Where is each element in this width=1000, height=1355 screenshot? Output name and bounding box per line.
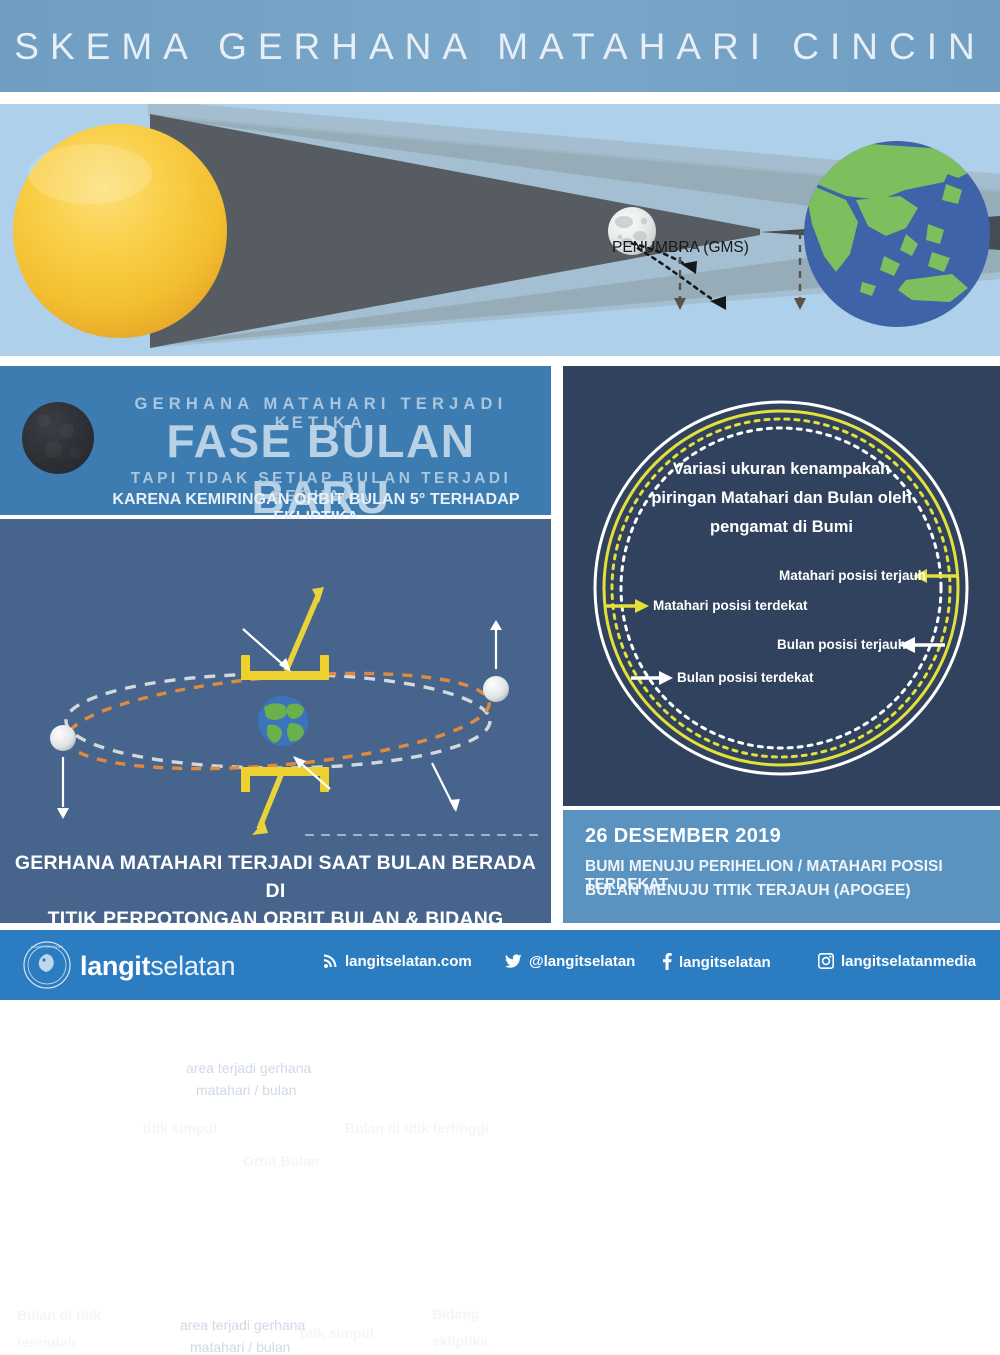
label-moon-lowest-line2: terendah: [17, 1334, 76, 1350]
label-moon-farthest: Bulan posisi terjauh: [777, 637, 906, 652]
apparent-size-title-line3: pengamat di Bumi: [603, 513, 960, 542]
eclipse-geometry-diagram: PENUMBRA (GMS) UMBRA (GMT) ANTUMBRA (GMC…: [0, 104, 1000, 356]
label-ecliptic-line1: Bidang: [432, 1306, 479, 1322]
earth-globe: [804, 141, 990, 327]
node-marker-bottom: [241, 767, 329, 792]
apparent-size-title: Variasi ukuran kenampakan piringan Matah…: [603, 455, 960, 542]
langitselatan-seal-logo: LANGITSELATAN: [22, 940, 72, 990]
instagram-icon: [818, 953, 834, 973]
label-eclipse-area-bottom-line2: matahari / bulan: [190, 1339, 290, 1355]
social-facebook-label: langitselatan: [679, 954, 771, 971]
orbit-footer-line1: GERHANA MATAHARI TERJADI SAAT BULAN BERA…: [10, 849, 541, 905]
new-moon-icon: [22, 402, 94, 474]
moon-lowest-point: [50, 725, 76, 751]
label-eclipse-area-top-line1: area terjadi gerhana: [186, 1060, 311, 1076]
eclipse-area-arrow-bottom: [259, 775, 281, 829]
label-eclipse-area-bottom-line1: area terjadi gerhana: [180, 1317, 305, 1333]
moon-orbit-diagram: area terjadi gerhana matahari / bulan ti…: [0, 519, 551, 923]
seal-text: LANGITSELATAN: [31, 944, 63, 949]
social-website[interactable]: langitselatan.com: [322, 953, 472, 973]
event-date: 26 DESEMBER 2019: [585, 825, 781, 848]
social-website-label: langitselatan.com: [345, 953, 472, 970]
label-node-top: titik simpul: [143, 1120, 217, 1136]
apparent-size-diagram: Variasi ukuran kenampakan piringan Matah…: [563, 366, 1000, 806]
new-moon-banner: GERHANA MATAHARI TERJADI KETIKA FASE BUL…: [0, 366, 551, 515]
label-moon-orbit: Orbit Bulan: [243, 1153, 319, 1169]
label-moon-highest: Bulan di titik tertinggi: [345, 1120, 489, 1136]
moon-highest-point: [483, 676, 509, 702]
label-moon-lowest-line1: Bulan di titik: [17, 1307, 101, 1323]
apparent-size-title-line2: piringan Matahari dan Bulan oleh: [603, 484, 960, 513]
label-sun-nearest: Matahari posisi terdekat: [653, 598, 808, 613]
brand-bold: langit: [80, 951, 150, 981]
page-title: SKEMA GERHANA MATAHARI CINCIN: [0, 26, 1000, 68]
antumbra-pointer-arrowhead: [794, 298, 806, 310]
header-bar: SKEMA GERHANA MATAHARI CINCIN: [0, 0, 1000, 92]
facebook-icon: [662, 953, 672, 974]
rss-icon: [322, 953, 338, 973]
infographic-page: SKEMA GERHANA MATAHARI CINCIN: [0, 0, 1000, 1000]
brand-light: selatan: [150, 951, 235, 981]
label-node-bottom: titik simpul: [300, 1325, 374, 1341]
apparent-size-title-line1: Variasi ukuran kenampakan: [603, 455, 960, 484]
eclipse-area-arrow-top: [286, 596, 318, 671]
event-subtitle-2: BULAN MENUJU TITIK TERJAUH (APOGEE): [585, 882, 911, 900]
social-twitter-label: @langitselatan: [529, 953, 635, 970]
apparent-size-svg: [563, 366, 1000, 806]
sun-sphere: [13, 124, 227, 338]
social-instagram-label: langitselatanmedia: [841, 953, 976, 970]
social-facebook[interactable]: langitselatan: [662, 953, 771, 974]
footer-bar: LANGITSELATAN langitselatan langitselata…: [0, 930, 1000, 1000]
label-moon-nearest: Bulan posisi terdekat: [677, 670, 814, 685]
label-sun-farthest: Matahari posisi terjauh: [779, 568, 926, 583]
twitter-icon: [505, 954, 522, 973]
social-twitter[interactable]: @langitselatan: [505, 953, 635, 973]
social-instagram[interactable]: langitselatanmedia: [818, 953, 976, 973]
label-eclipse-area-top-line2: matahari / bulan: [196, 1082, 296, 1098]
earth-icon: [258, 696, 308, 746]
label-penumbra: PENUMBRA (GMS): [612, 239, 749, 257]
label-ecliptic-line2: ekliptika: [432, 1333, 488, 1349]
eclipse-geometry-svg: [0, 104, 1000, 356]
event-date-panel: 26 DESEMBER 2019 BUMI MENUJU PERIHELION …: [563, 810, 1000, 923]
sun-nearest-arrow: [606, 599, 649, 613]
brand-wordmark: langitselatan: [80, 951, 235, 982]
